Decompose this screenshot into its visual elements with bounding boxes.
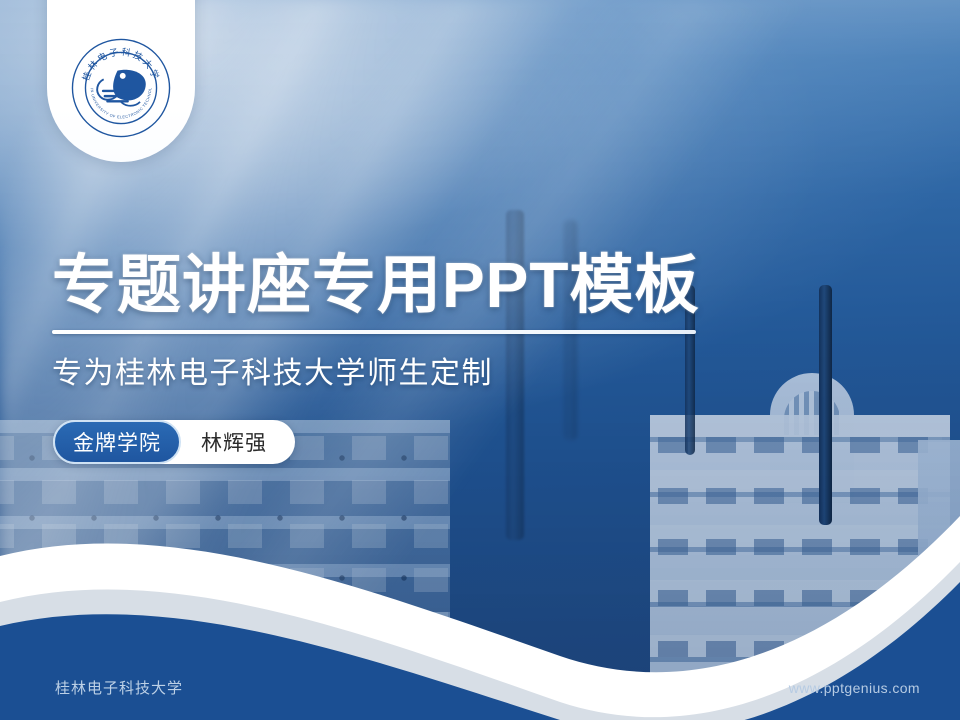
title-divider: [52, 330, 696, 334]
university-logo-icon: 桂林电子科技大学 GUILIN UNIVERSITY OF ELECTRONIC…: [69, 36, 173, 140]
page-subtitle: 专为桂林电子科技大学师生定制: [52, 348, 493, 392]
footer-website[interactable]: www.pptgenius.com: [789, 680, 920, 696]
university-logo-panel: 桂林电子科技大学 GUILIN UNIVERSITY OF ELECTRONIC…: [47, 0, 195, 162]
presenter-name: 林辉强: [181, 427, 273, 457]
status-badge: 金牌学院: [53, 420, 181, 464]
presenter-badge: 金牌学院 林辉强: [53, 420, 295, 464]
page-title: 专题讲座专用PPT模板: [52, 234, 699, 326]
footer-university-name: 桂林电子科技大学: [55, 677, 183, 698]
presentation-slide: 桂林电子科技大学 GUILIN UNIVERSITY OF ELECTRONIC…: [0, 0, 960, 720]
